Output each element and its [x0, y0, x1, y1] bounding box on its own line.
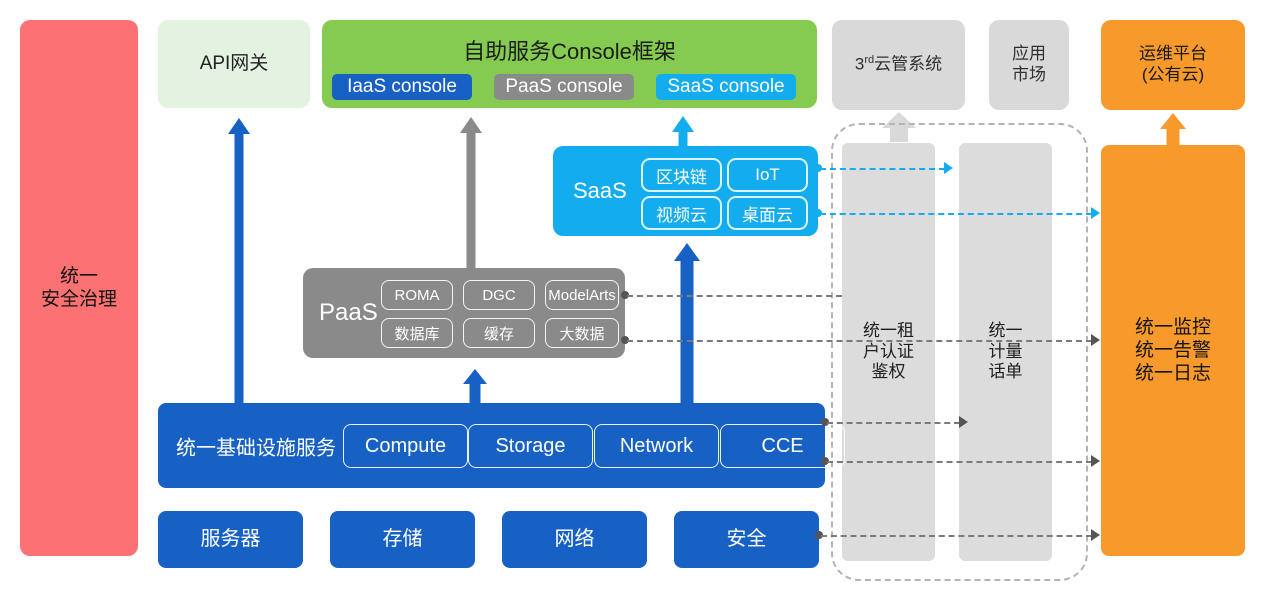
arrow-paas-to-console: [460, 117, 482, 272]
infra-chip-network[interactable]: Network: [594, 424, 719, 468]
saas-chip-blockchain-label: 区块链: [656, 163, 707, 188]
ops-top-line1: 运维平台: [1139, 44, 1207, 65]
unified-security-governance-panel[interactable]: 统一 安全治理: [20, 20, 138, 556]
api-gateway-label: API网关: [200, 52, 269, 75]
infra-chip-cce-label: CCE: [761, 435, 803, 458]
iaas-console-chip[interactable]: IaaS console: [332, 74, 472, 100]
self-service-console-frame[interactable]: 自助服务Console框架 IaaS console PaaS console …: [322, 20, 817, 108]
arrow-infra-to-paas: [463, 369, 487, 404]
ops-right-line3: 统一日志: [1135, 362, 1211, 385]
paas-console-chip[interactable]: PaaS console: [494, 74, 634, 100]
connector-arrowhead-saas-top: [944, 162, 953, 174]
paas-chip-database[interactable]: 数据库: [381, 318, 453, 348]
resource-box-storage[interactable]: 存储: [330, 511, 475, 568]
infra-chip-storage[interactable]: Storage: [468, 424, 593, 468]
arrow-infra-to-saas: [674, 243, 700, 406]
third-party-cloud-mgmt-box[interactable]: 3rd云管系统: [832, 20, 965, 110]
api-gateway-box[interactable]: API网关: [158, 20, 310, 108]
paas-chip-roma[interactable]: ROMA: [381, 280, 453, 310]
console-frame-title: 自助服务Console框架: [322, 34, 817, 66]
paas-chip-cache-label: 缓存: [484, 323, 514, 344]
unified-tenant-auth-column[interactable]: 统一租 户认证 鉴权: [842, 143, 935, 561]
metering-line3: 话单: [989, 362, 1023, 383]
unified-monitoring-panel[interactable]: 统一监控 统一告警 统一日志: [1101, 145, 1245, 556]
resource-box-server[interactable]: 服务器: [158, 511, 303, 568]
saas-console-label: SaaS console: [667, 76, 784, 98]
connector-arrowhead-resources: [1091, 529, 1100, 541]
saas-layer-label: SaaS: [573, 178, 627, 204]
connector-arrowhead-saas-bottom: [1091, 207, 1100, 219]
saas-chip-desktop-cloud-label: 桌面云: [742, 201, 793, 226]
paas-console-label: PaaS console: [505, 76, 622, 98]
resource-security-label: 安全: [727, 527, 767, 551]
iaas-console-label: IaaS console: [347, 76, 457, 98]
paas-layer-label: PaaS: [319, 299, 378, 327]
paas-chip-bigdata-label: 大数据: [559, 323, 604, 344]
infra-label: 统一基础设施服务: [176, 431, 336, 460]
ops-platform-public-cloud-box[interactable]: 运维平台 (公有云): [1101, 20, 1245, 110]
connector-saas-to-ops: [820, 213, 1092, 215]
resource-network-label: 网络: [555, 527, 595, 551]
saas-chip-iot[interactable]: IoT: [727, 158, 808, 192]
app-market-line2: 市场: [1012, 65, 1046, 86]
metering-line2: 计量: [989, 342, 1023, 363]
app-market-line1: 应用: [1012, 44, 1046, 65]
paas-layer-box[interactable]: PaaS ROMA DGC ModelArts 数据库 缓存 大数据: [303, 268, 625, 358]
ops-top-line2: (公有云): [1139, 65, 1207, 86]
resource-box-security[interactable]: 安全: [674, 511, 819, 568]
saas-chip-blockchain[interactable]: 区块链: [641, 158, 722, 192]
connector-saas-to-tenant-auth: [820, 168, 945, 170]
app-market-box[interactable]: 应用 市场: [989, 20, 1069, 110]
third-party-label: 3rd云管系统: [855, 54, 942, 75]
saas-layer-box[interactable]: SaaS 区块链 IoT 视频云 桌面云: [553, 146, 818, 236]
paas-chip-modelarts-label: ModelArts: [548, 287, 616, 304]
paas-chip-database-label: 数据库: [394, 323, 439, 344]
arrow-infra-to-api-gateway: [228, 118, 250, 406]
connector-arrowhead-infra-bottom: [1091, 455, 1100, 467]
resource-storage-label: 存储: [383, 527, 423, 551]
metering-line1: 统一: [989, 321, 1023, 342]
connector-paas-to-tenant-auth: [627, 295, 842, 297]
resource-box-network[interactable]: 网络: [502, 511, 647, 568]
unified-metering-billing-column[interactable]: 统一 计量 话单: [959, 143, 1052, 561]
resource-server-label: 服务器: [201, 527, 261, 551]
arrow-ops-right-to-ops-top: [1160, 113, 1186, 145]
ops-right-line2: 统一告警: [1135, 339, 1211, 362]
saas-console-chip[interactable]: SaaS console: [656, 74, 796, 100]
security-label-line2: 安全治理: [41, 288, 117, 311]
connector-resources-to-ops: [821, 535, 1092, 537]
paas-chip-bigdata[interactable]: 大数据: [545, 318, 619, 348]
connector-arrowhead-paas-bottom: [1091, 334, 1100, 346]
infra-chip-compute-label: Compute: [365, 435, 446, 458]
tenant-auth-line2: 户认证: [863, 342, 914, 363]
ops-right-line1: 统一监控: [1135, 316, 1211, 339]
tenant-auth-line3: 鉴权: [863, 362, 914, 383]
paas-chip-cache[interactable]: 缓存: [463, 318, 535, 348]
saas-chip-desktop-cloud[interactable]: 桌面云: [727, 196, 808, 230]
paas-chip-dgc[interactable]: DGC: [463, 280, 535, 310]
connector-arrowhead-infra-top: [959, 416, 968, 428]
unified-infrastructure-service-bar[interactable]: 统一基础设施服务 Compute Storage Network CCE: [158, 403, 825, 488]
infra-chip-storage-label: Storage: [495, 435, 565, 458]
saas-chip-video-cloud[interactable]: 视频云: [641, 196, 722, 230]
tenant-auth-line1: 统一租: [863, 321, 914, 342]
connector-infra-to-metering: [827, 422, 960, 424]
paas-chip-modelarts[interactable]: ModelArts: [545, 280, 619, 310]
connector-paas-to-ops: [627, 340, 1092, 342]
paas-chip-roma-label: ROMA: [395, 287, 440, 304]
saas-chip-video-cloud-label: 视频云: [656, 201, 707, 226]
infra-chip-network-label: Network: [620, 435, 693, 458]
saas-chip-iot-label: IoT: [755, 165, 780, 185]
security-label-line1: 统一: [41, 265, 117, 288]
infra-chip-compute[interactable]: Compute: [343, 424, 468, 468]
paas-chip-dgc-label: DGC: [482, 287, 515, 304]
architecture-diagram: 统一 安全治理 API网关 自助服务Console框架 IaaS console…: [0, 0, 1265, 605]
connector-infra-to-ops: [827, 461, 1092, 463]
